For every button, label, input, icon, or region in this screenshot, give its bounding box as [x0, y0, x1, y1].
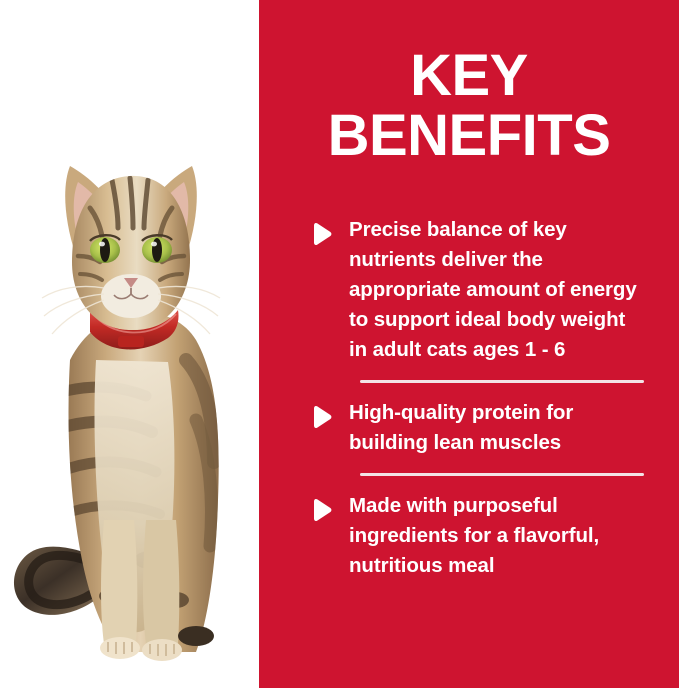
cat-photo-panel	[0, 0, 259, 688]
key-benefits-infographic: KEY BENEFITS Precise balance of key nutr…	[0, 0, 679, 688]
benefits-list: Precise balance of key nutrients deliver…	[259, 215, 679, 581]
list-item-text: High-quality protein for building lean m…	[349, 398, 644, 458]
list-item: Made with purposeful ingredients for a f…	[259, 491, 679, 581]
divider	[360, 473, 644, 476]
play-triangle-icon	[311, 222, 333, 246]
divider	[360, 380, 644, 383]
cat-photo	[0, 0, 259, 688]
list-item: High-quality protein for building lean m…	[259, 398, 679, 458]
list-item-text: Made with purposeful ingredients for a f…	[349, 491, 644, 581]
list-item-text: Precise balance of key nutrients deliver…	[349, 215, 644, 365]
play-triangle-icon	[311, 498, 333, 522]
benefits-panel: KEY BENEFITS Precise balance of key nutr…	[259, 0, 679, 688]
page-title: KEY BENEFITS	[259, 46, 679, 166]
play-triangle-icon	[311, 405, 333, 429]
list-item: Precise balance of key nutrients deliver…	[259, 215, 679, 365]
